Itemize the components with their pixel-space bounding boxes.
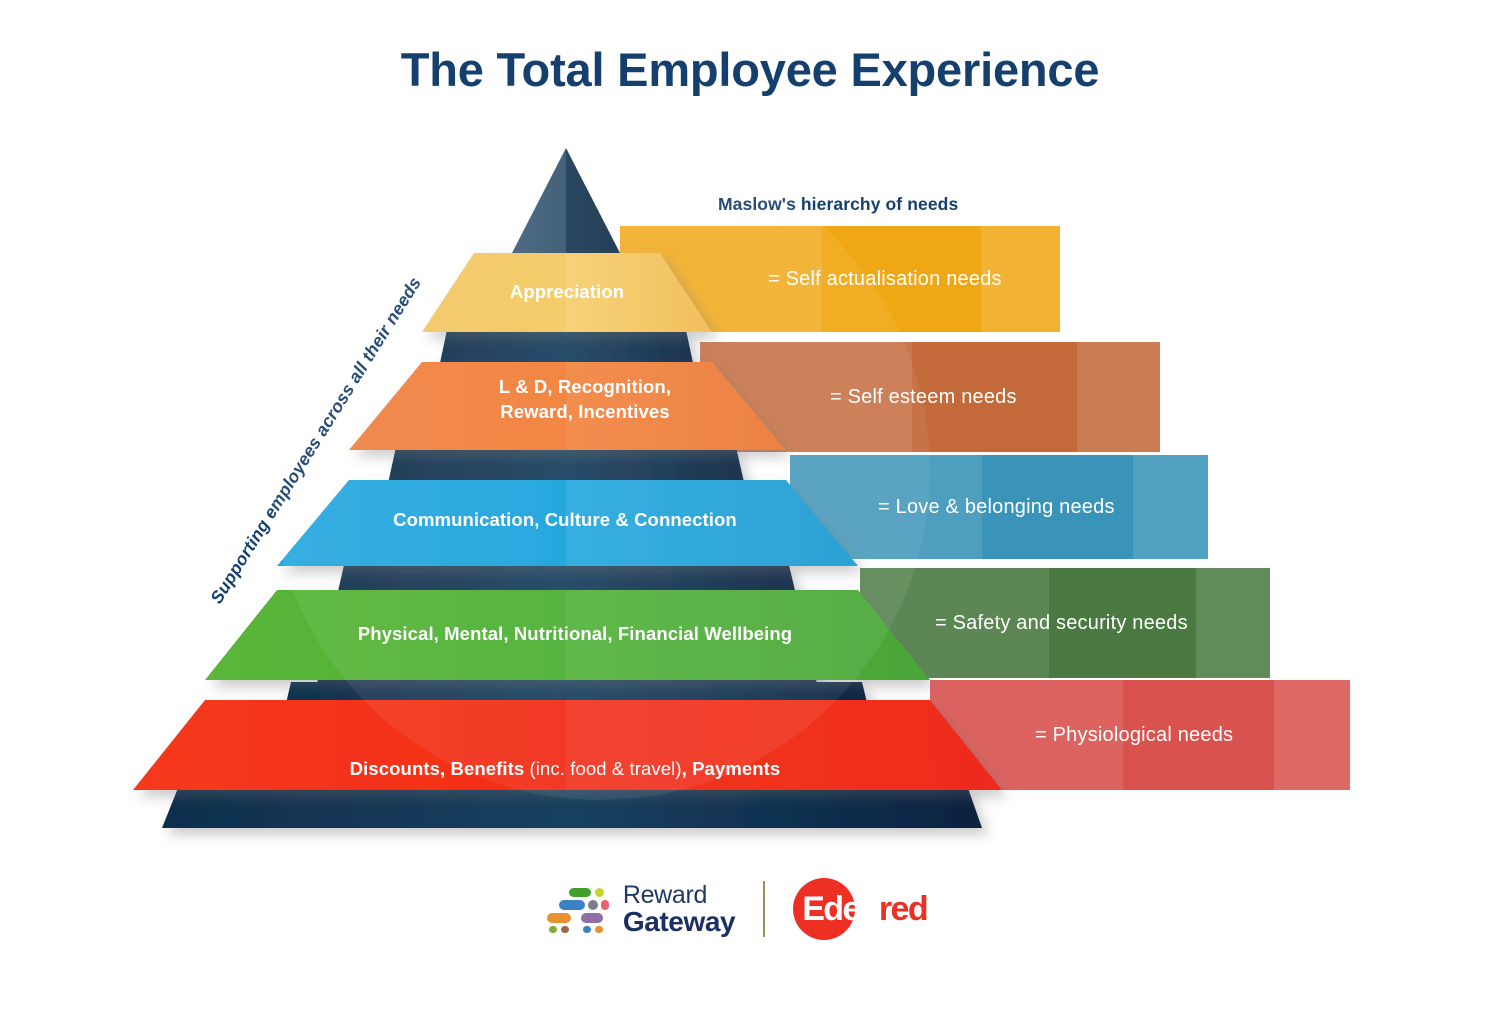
light-overlay [270,140,930,800]
pyramid-graphic [0,0,1500,1012]
logo-divider [763,881,765,937]
logo-strip: Reward Gateway Edenred [0,878,1500,940]
edenred-part-white: Eden [802,890,879,928]
reward-gateway-wordmark: Reward Gateway [623,883,735,935]
edenred-logo: Edenred [793,878,953,940]
reward-gateway-line1: Reward [623,883,735,908]
reward-gateway-dots-mark [547,886,609,932]
infographic-canvas: The Total Employee Experience Maslow's h… [0,0,1500,1012]
edenred-part-red: red [879,890,927,928]
edenred-wordmark: Edenred [793,890,927,929]
reward-gateway-line2: Gateway [623,908,735,935]
reward-gateway-logo: Reward Gateway [547,883,735,935]
